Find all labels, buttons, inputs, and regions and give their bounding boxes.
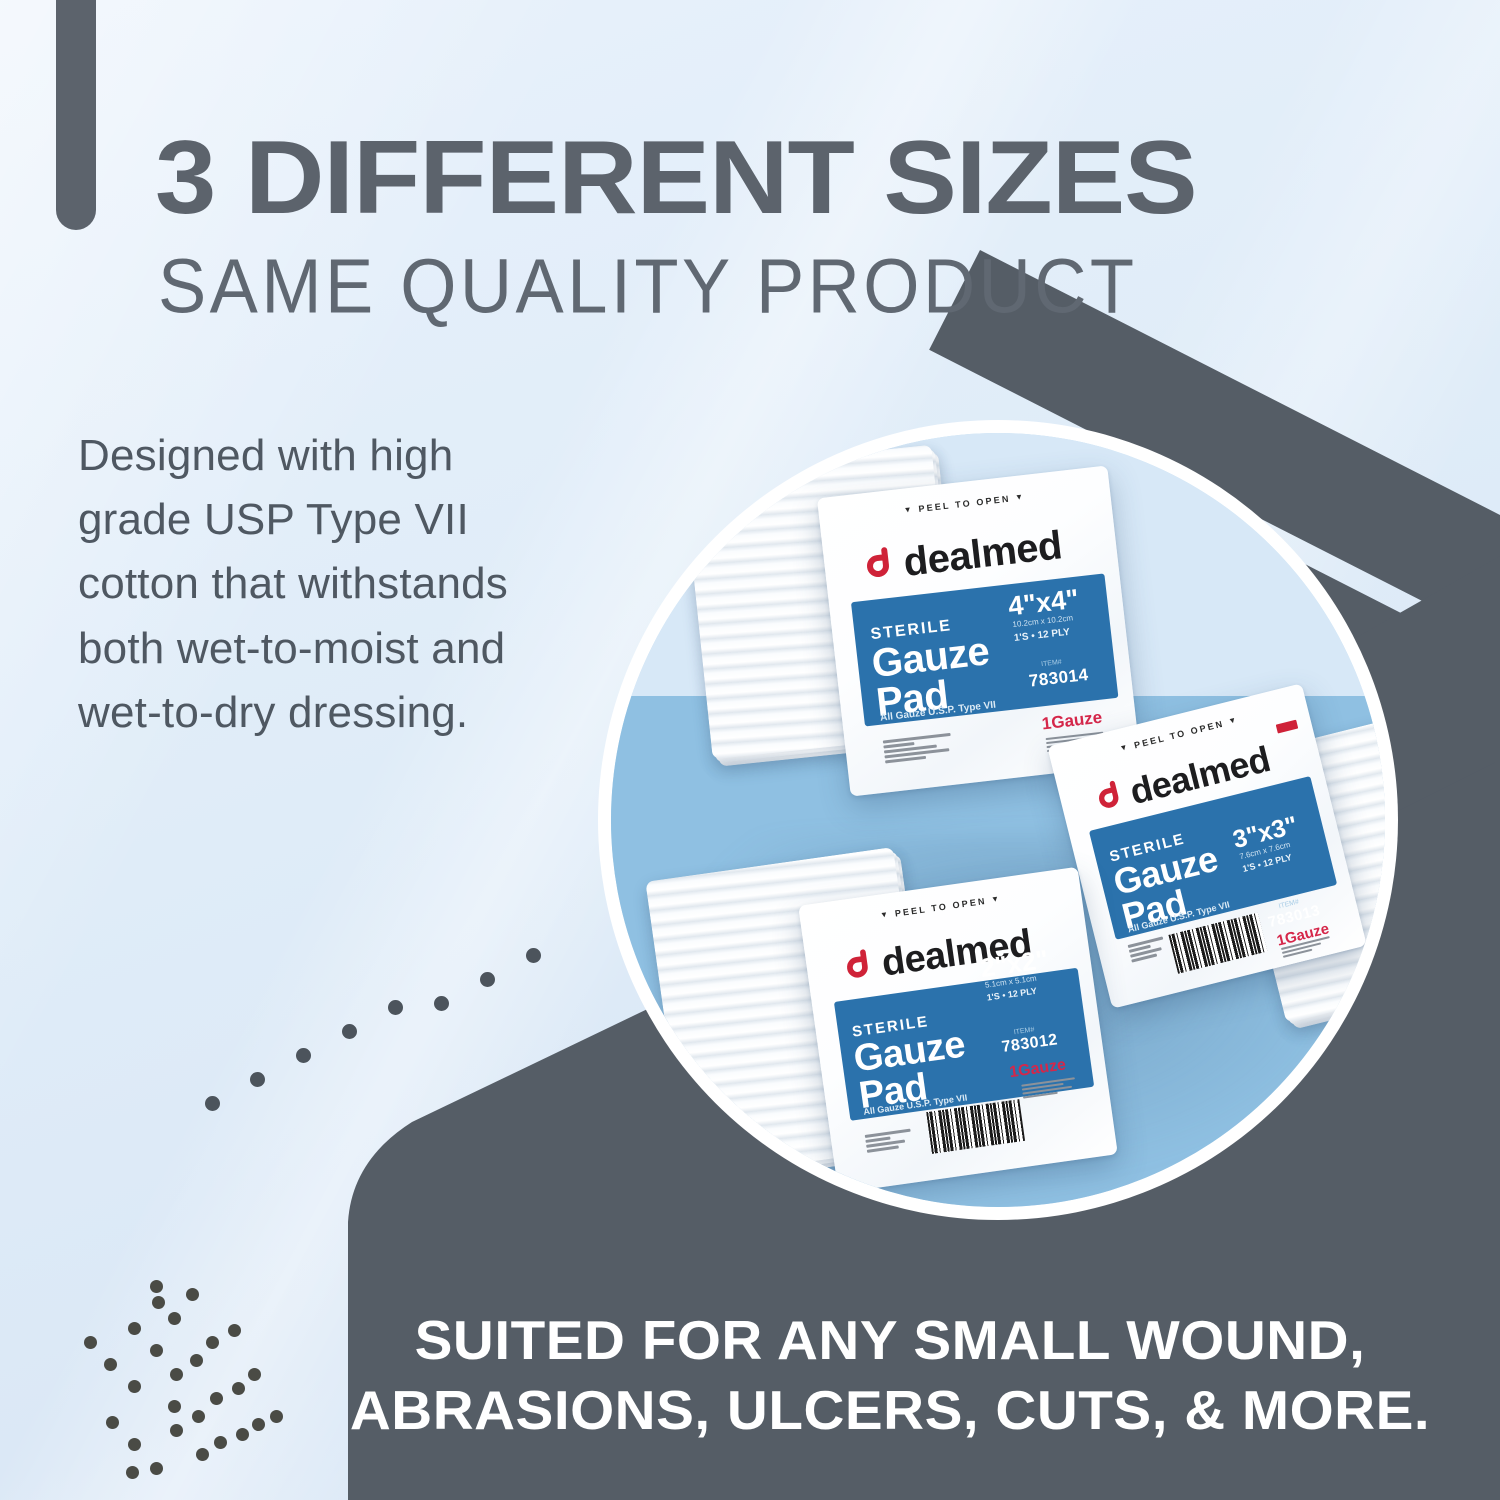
dealmed-logo-icon [1092,777,1130,818]
triangle-icon: ▼ [1227,715,1239,726]
banner-line-2: ABRASIONS, ULCERS, CUTS, & MORE. [313,1375,1467,1445]
triangle-icon: ▼ [991,894,1002,904]
triangle-icon: ▼ [1015,492,1026,502]
page-title: 3 DIFFERENT SIZES [155,126,1197,230]
dealmed-logo-icon [841,947,878,988]
triangle-icon: ▼ [1119,742,1131,753]
page-subtitle: SAME QUALITY PRODUCT [158,248,1138,325]
fine-print-left-3x3 [1128,936,1167,962]
count-badge-4x4: 1Gauze [1041,708,1103,735]
product-photo-scene: ▼ PEEL TO OPEN ▼ dealmed STERILE [611,433,1385,1207]
bottom-banner: SUITED FOR ANY SMALL WOUND, ABRASIONS, U… [313,1305,1467,1446]
red-tab-3x3 [1276,720,1299,734]
product-photo-circle: ▼ PEEL TO OPEN ▼ dealmed STERILE [598,420,1398,1220]
body-copy: Designed with high grade USP Type VII co… [78,424,548,745]
fine-print-left-2x2 [865,1129,913,1153]
package-2x2[interactable]: ▼ PEEL TO OPEN ▼ dealmed STERILE [798,867,1118,1193]
accent-bar [56,0,96,230]
triangle-icon: ▼ [880,909,891,919]
dealmed-logo-icon [861,545,899,588]
triangle-icon: ▼ [903,505,914,515]
poster-canvas: 3 DIFFERENT SIZES SAME QUALITY PRODUCT D… [0,0,1500,1500]
banner-line-1: SUITED FOR ANY SMALL WOUND, [313,1305,1467,1375]
fine-print-left-4x4 [883,733,953,764]
brand-name-4x4: dealmed [901,523,1064,586]
